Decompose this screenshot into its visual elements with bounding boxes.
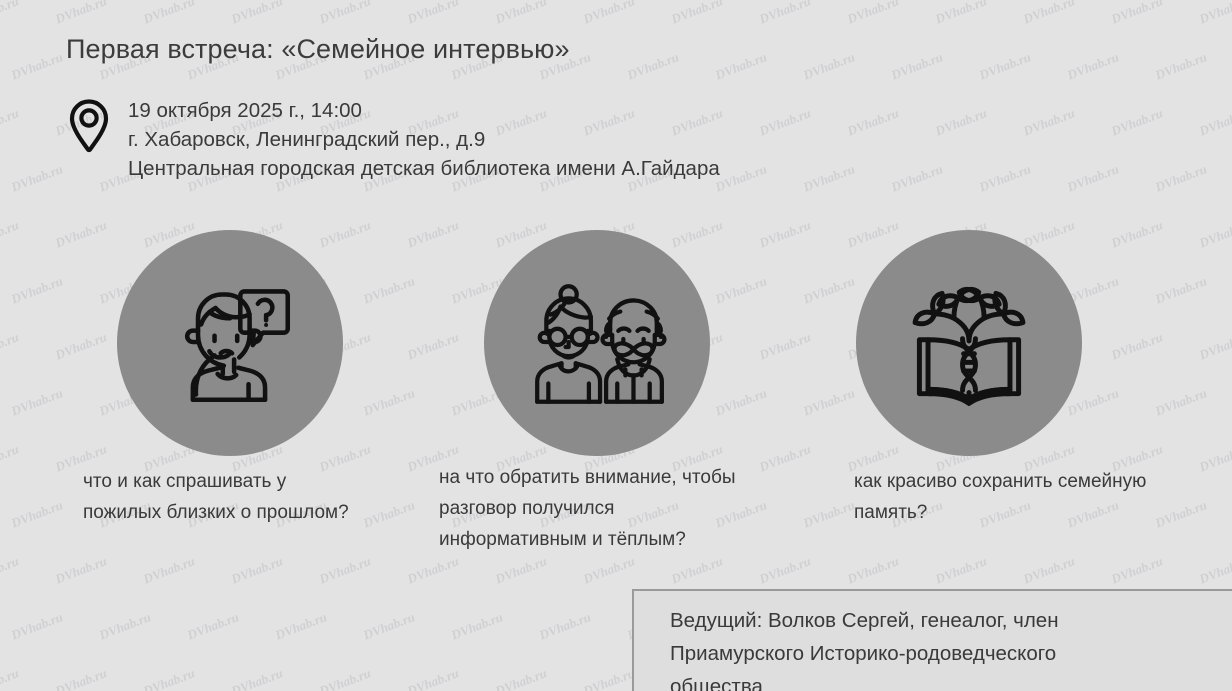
watermark-text: DVhab.ru (0, 410, 60, 494)
watermark-text: DVhab.ru (1102, 0, 1204, 46)
watermark-text: DVhab.ru (0, 634, 60, 691)
watermark-text: DVhab.ru (1190, 0, 1232, 46)
watermark-text: DVhab.ru (0, 18, 16, 102)
watermark-text: DVhab.ru (1014, 74, 1116, 158)
watermark-text: DVhab.ru (1190, 298, 1232, 382)
host-info-line-3: общества (670, 670, 1059, 691)
topic-caption-2-line-1: на что обратить внимание, чтобы (439, 462, 736, 493)
watermark-text: DVhab.ru (0, 578, 16, 662)
watermark-text: DVhab.ru (1190, 74, 1232, 158)
topic-caption-3-line-1: как красиво сохранить семейную (854, 466, 1146, 497)
watermark-text: DVhab.ru (1058, 18, 1160, 102)
event-address: г. Хабаровск, Ленинградский пер., д.9 (128, 125, 720, 154)
watermark-text: DVhab.ru (0, 242, 16, 326)
watermark-text: DVhab.ru (1102, 74, 1204, 158)
watermark-text: DVhab.ru (0, 522, 60, 606)
topic-caption-1-line-1: что и как спрашивать у (83, 466, 349, 497)
watermark-text: DVhab.ru (574, 0, 676, 46)
watermark-text: DVhab.ru (1014, 0, 1116, 46)
watermark-text: DVhab.ru (354, 354, 456, 438)
host-info-panel: Ведущий: Волков Сергей, генеалог, член П… (632, 589, 1232, 691)
event-venue: Центральная городская детская библиотека… (128, 154, 720, 183)
watermark-text: DVhab.ru (178, 578, 280, 662)
watermark-text: DVhab.ru (662, 0, 764, 46)
watermark-text: DVhab.ru (1146, 354, 1232, 438)
watermark-text: DVhab.ru (222, 634, 324, 691)
watermark-text: DVhab.ru (926, 74, 1028, 158)
event-details-block: 19 октября 2025 г., 14:00 г. Хабаровск, … (64, 96, 720, 183)
topic-caption-1: что и как спрашивать у пожилых близких о… (83, 466, 349, 528)
watermark-text: DVhab.ru (46, 634, 148, 691)
watermark-text: DVhab.ru (134, 522, 236, 606)
watermark-text: DVhab.ru (750, 410, 852, 494)
topic-caption-1-line-2: пожилых близких о прошлом? (83, 497, 349, 528)
event-details-text: 19 октября 2025 г., 14:00 г. Хабаровск, … (128, 96, 720, 183)
topic-icon-circle-3 (856, 230, 1082, 456)
watermark-text: DVhab.ru (838, 0, 940, 46)
watermark-text: DVhab.ru (0, 74, 60, 158)
watermark-text: DVhab.ru (0, 186, 60, 270)
watermark-text: DVhab.ru (1190, 410, 1232, 494)
watermark-text: DVhab.ru (2, 354, 104, 438)
watermark-text: DVhab.ru (486, 634, 588, 691)
watermark-text: DVhab.ru (794, 130, 896, 214)
watermark-text: DVhab.ru (0, 298, 60, 382)
host-info-line-2: Приамурского Историко-родоведческого (670, 637, 1059, 670)
family-tree-book-icon (900, 274, 1038, 412)
watermark-text: DVhab.ru (398, 186, 500, 270)
watermark-text: DVhab.ru (1146, 18, 1232, 102)
watermark-text: DVhab.ru (354, 578, 456, 662)
watermark-text: DVhab.ru (1058, 130, 1160, 214)
host-info-line-1: Ведущий: Волков Сергей, генеалог, член (670, 604, 1059, 637)
watermark-text: DVhab.ru (310, 634, 412, 691)
watermark-text: DVhab.ru (46, 522, 148, 606)
watermark-text: DVhab.ru (706, 130, 808, 214)
presentation-slide: Первая встреча: «Семейное интервью» 19 о… (0, 0, 1232, 691)
watermark-text: DVhab.ru (1102, 298, 1204, 382)
watermark-text: DVhab.ru (0, 0, 60, 46)
topic-icon-circle-2 (484, 230, 710, 456)
topic-caption-2-line-3: информативным и тёплым? (439, 524, 736, 555)
watermark-text: DVhab.ru (2, 578, 104, 662)
event-datetime: 19 октября 2025 г., 14:00 (128, 96, 720, 125)
watermark-text: DVhab.ru (310, 522, 412, 606)
watermark-text: DVhab.ru (1190, 186, 1232, 270)
watermark-text: DVhab.ru (46, 186, 148, 270)
topic-caption-3: как красиво сохранить семейную память? (854, 466, 1146, 528)
watermark-text: DVhab.ru (706, 18, 808, 102)
topic-icon-circle-1 (117, 230, 343, 456)
watermark-text: DVhab.ru (310, 186, 412, 270)
topic-caption-3-line-2: память? (854, 497, 1146, 528)
watermark-text: DVhab.ru (222, 522, 324, 606)
watermark-text: DVhab.ru (618, 18, 720, 102)
watermark-text: DVhab.ru (838, 74, 940, 158)
watermark-text: DVhab.ru (750, 74, 852, 158)
watermark-text: DVhab.ru (442, 578, 544, 662)
watermark-text: DVhab.ru (750, 298, 852, 382)
watermark-text: DVhab.ru (398, 634, 500, 691)
watermark-text: DVhab.ru (882, 18, 984, 102)
watermark-text: DVhab.ru (0, 354, 16, 438)
watermark-text: DVhab.ru (970, 18, 1072, 102)
watermark-text: DVhab.ru (970, 130, 1072, 214)
watermark-text: DVhab.ru (1102, 186, 1204, 270)
watermark-text: DVhab.ru (0, 130, 16, 214)
watermark-text: DVhab.ru (794, 18, 896, 102)
watermark-text: DVhab.ru (1146, 466, 1232, 550)
watermark-text: DVhab.ru (266, 578, 368, 662)
watermark-text: DVhab.ru (706, 354, 808, 438)
watermark-text: DVhab.ru (2, 242, 104, 326)
thinking-person-question-icon (164, 277, 296, 409)
topic-caption-2: на что обратить внимание, чтобы разговор… (439, 462, 736, 555)
watermark-text: DVhab.ru (882, 130, 984, 214)
watermark-text: DVhab.ru (750, 0, 852, 46)
watermark-text: DVhab.ru (354, 242, 456, 326)
watermark-text: DVhab.ru (0, 466, 16, 550)
watermark-text: DVhab.ru (90, 578, 192, 662)
watermark-text: DVhab.ru (1146, 242, 1232, 326)
watermark-text: DVhab.ru (530, 578, 632, 662)
watermark-text: DVhab.ru (1146, 130, 1232, 214)
watermark-text: DVhab.ru (134, 634, 236, 691)
topic-caption-2-line-2: разговор получился (439, 493, 736, 524)
watermark-text: DVhab.ru (662, 186, 764, 270)
watermark-text: DVhab.ru (926, 0, 1028, 46)
map-pin-icon (67, 98, 111, 154)
elderly-couple-icon (521, 278, 673, 408)
host-info-text: Ведущий: Волков Сергей, генеалог, член П… (670, 604, 1059, 691)
watermark-text: DVhab.ru (750, 186, 852, 270)
page-title: Первая встреча: «Семейное интервью» (66, 30, 570, 68)
watermark-text: DVhab.ru (706, 242, 808, 326)
